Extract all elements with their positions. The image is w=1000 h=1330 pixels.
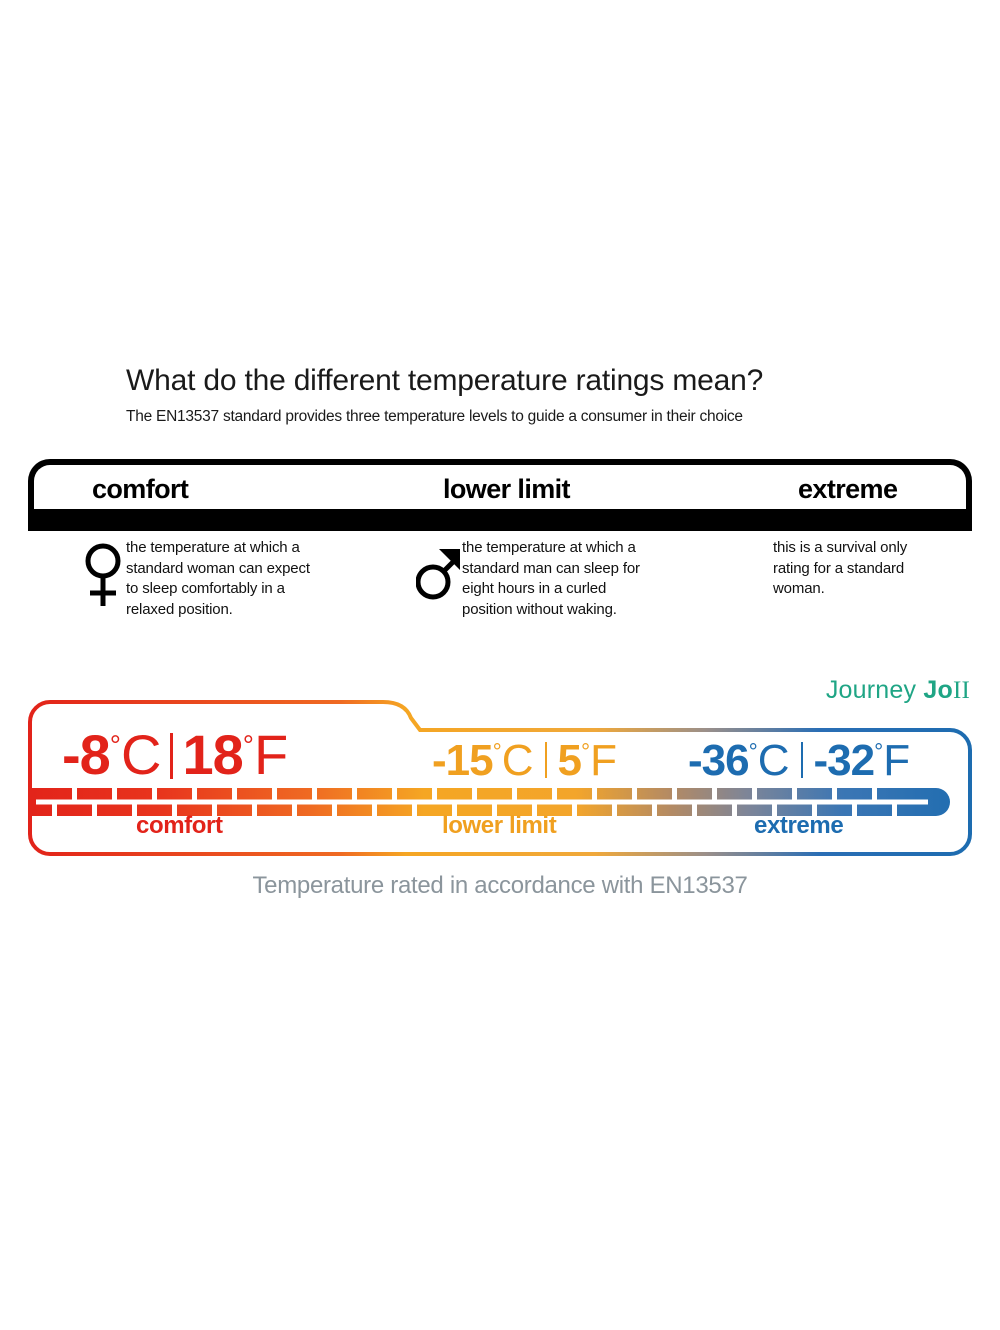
readout-extreme-fahrenheit-unit: F [883, 736, 910, 785]
desc-line: relaxed position. [126, 600, 310, 621]
readout-comfort-fahrenheit-unit: F [254, 723, 288, 786]
description-column-extreme: this is a survival only rating for a sta… [773, 538, 983, 600]
header-label-comfort: comfort [92, 474, 188, 505]
readout-comfort-fahrenheit-value: 18 [182, 723, 242, 786]
desc-line: standard woman can expect [126, 559, 310, 580]
footer-standard-note: Temperature rated in accordance with EN1… [0, 872, 1000, 900]
readout-extreme: -36°C-32°F [688, 736, 910, 786]
desc-line: the temperature at which a [462, 538, 640, 559]
degree-symbol-icon: ° [243, 729, 254, 760]
desc-line: the temperature at which a [126, 538, 310, 559]
header-label-lower-limit: lower limit [443, 474, 570, 505]
degree-symbol-icon: ° [493, 738, 502, 764]
title-block: What do the different temperature rating… [126, 364, 886, 426]
readout-comfort: -8°C18°F [62, 722, 288, 787]
desc-line: position without waking. [462, 600, 640, 621]
readout-lower-limit-celsius-value: -15 [432, 736, 493, 785]
readout-lower-limit: -15°C5°F [432, 736, 617, 786]
readout-comfort-celsius-unit: C [121, 723, 161, 786]
desc-line: to sleep comfortably in a [126, 579, 310, 600]
degree-symbol-icon: ° [749, 738, 758, 764]
description-text-lower-limit: the temperature at which a standard man … [462, 538, 640, 620]
description-column-comfort: the temperature at which a standard woma… [80, 538, 380, 620]
readout-separator-icon [545, 742, 547, 778]
scale-label-extreme: extreme [754, 812, 843, 840]
readout-extreme-celsius-value: -36 [688, 736, 749, 785]
page-title: What do the different temperature rating… [126, 364, 886, 398]
desc-line: eight hours in a curled [462, 579, 640, 600]
degree-symbol-icon: ° [874, 738, 883, 764]
thermometer-major-ticks [72, 788, 877, 804]
description-row: the temperature at which a standard woma… [28, 538, 972, 633]
degree-symbol-icon: ° [110, 729, 121, 760]
page-subtitle: The EN13537 standard provides three temp… [126, 408, 886, 426]
description-column-lower-limit: the temperature at which a standard man … [416, 538, 716, 620]
description-text-extreme: this is a survival only rating for a sta… [773, 538, 907, 600]
desc-line: rating for a standard [773, 559, 907, 580]
readout-separator-icon [170, 733, 173, 779]
female-venus-icon [80, 540, 126, 610]
header-black-band [28, 509, 972, 531]
description-text-comfort: the temperature at which a standard woma… [126, 538, 310, 620]
male-mars-icon [416, 540, 462, 610]
temperature-scale-panel: -8°C18°F -15°C5°F -36°C-32°F comfort low… [28, 700, 972, 858]
scale-label-lower-limit: lower limit [442, 812, 556, 840]
readout-comfort-celsius-value: -8 [62, 723, 110, 786]
readout-lower-limit-celsius-unit: C [502, 736, 534, 785]
readout-extreme-fahrenheit-value: -32 [814, 736, 875, 785]
desc-line: woman. [773, 579, 907, 600]
readout-lower-limit-fahrenheit-unit: F [590, 736, 617, 785]
scale-label-comfort: comfort [136, 812, 223, 840]
readout-extreme-celsius-unit: C [758, 736, 790, 785]
readout-separator-icon [801, 742, 803, 778]
header-label-extreme: extreme [798, 474, 897, 505]
readout-lower-limit-fahrenheit-value: 5 [558, 736, 581, 785]
ratings-header-bar: comfort lower limit extreme [28, 459, 972, 531]
degree-symbol-icon: ° [581, 738, 590, 764]
desc-line: standard man can sleep for [462, 559, 640, 580]
header-label-row: comfort lower limit extreme [34, 465, 966, 513]
desc-line: this is a survival only [773, 538, 907, 559]
